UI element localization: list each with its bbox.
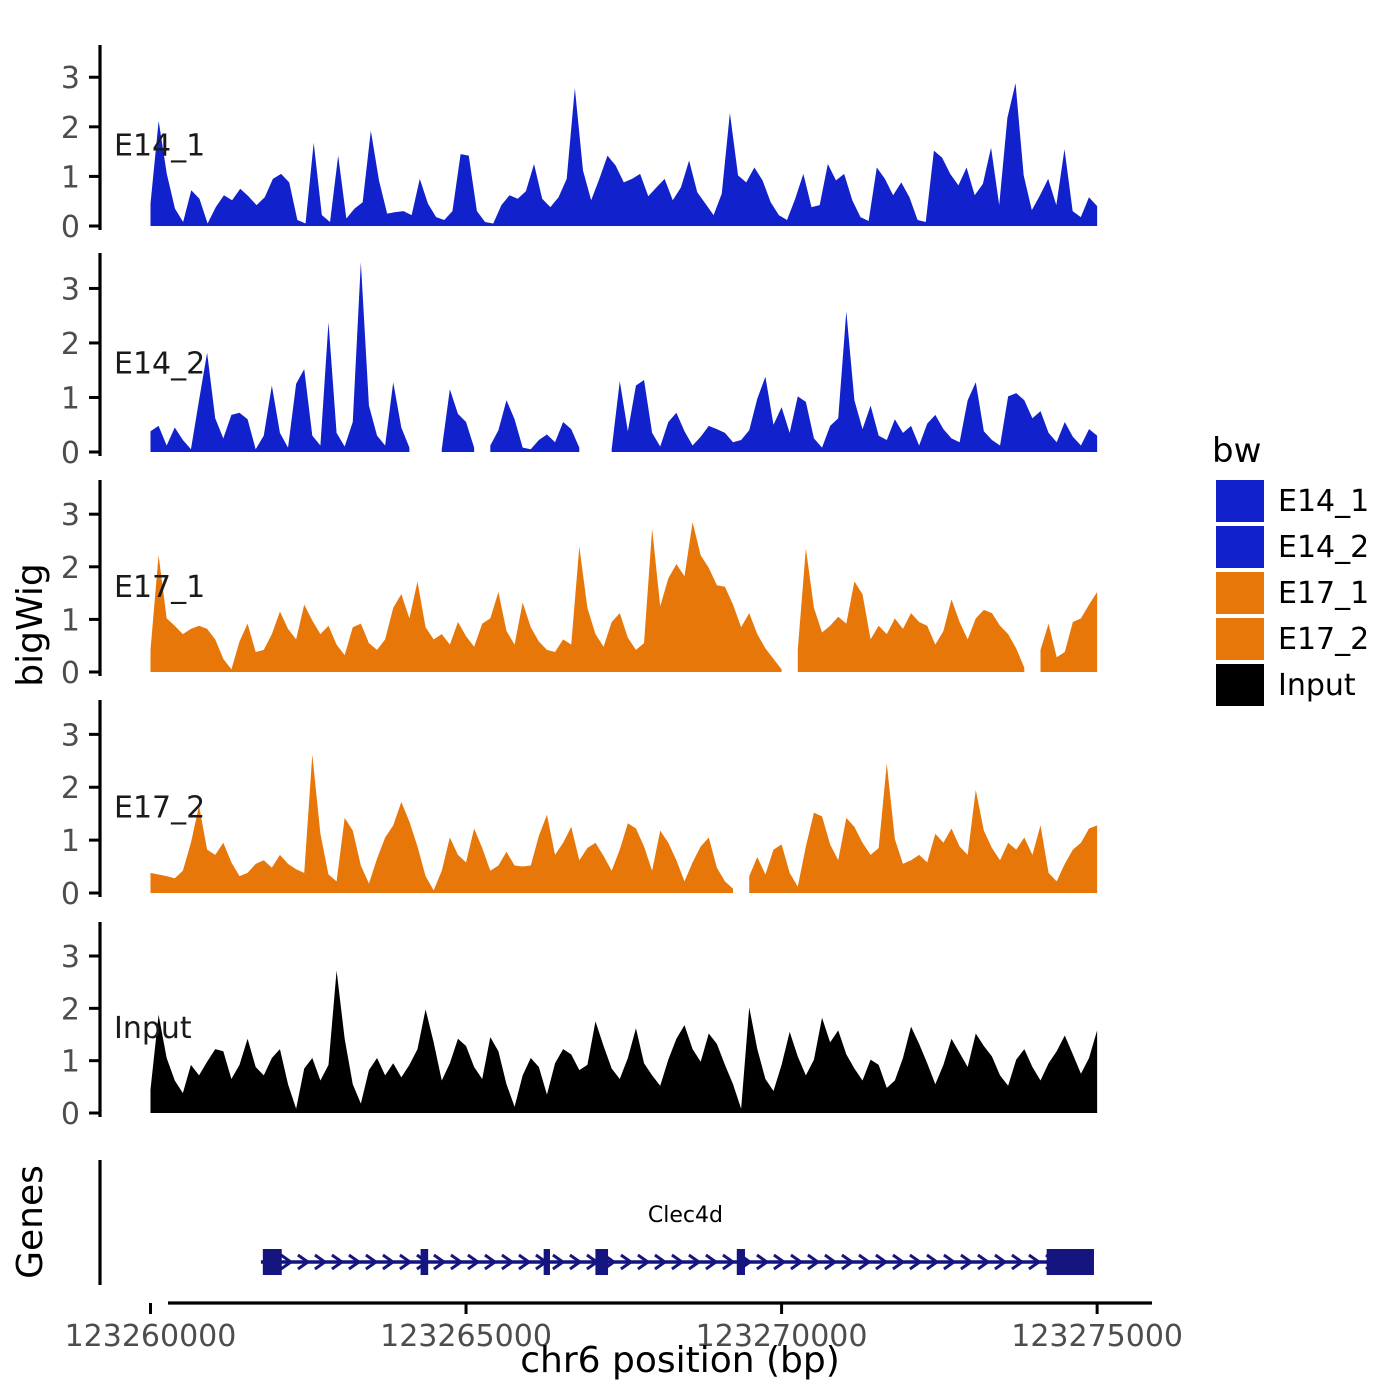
legend-swatch [1216,664,1264,706]
legend-swatch [1216,572,1264,614]
y-tick-label: 1 [61,381,80,416]
y-tick-label: 0 [61,656,80,691]
gene-exon-block [1047,1249,1094,1275]
legend-swatch [1216,618,1264,660]
y-tick-label: 0 [61,877,80,912]
y-axis-title-genes: Genes [10,1165,51,1279]
y-tick-label: 2 [61,327,80,362]
gene-exon-block [595,1249,608,1275]
track-panel-e17_1: 0123E17_1 [61,480,1097,691]
panel-label-e14_1: E14_1 [114,129,205,164]
y-tick-label: 2 [61,771,80,806]
legend-item-label: E17_2 [1278,622,1369,657]
panel-label-e14_2: E14_2 [114,347,205,382]
legend-item-input[interactable]: Input [1216,664,1356,706]
panel-label-input: Input [114,1011,192,1046]
legend-item-e17_1[interactable]: E17_1 [1216,572,1369,614]
gene-exon-block [737,1249,745,1275]
track-area-e14_2 [612,311,1097,452]
legend-item-e17_2[interactable]: E17_2 [1216,618,1369,660]
y-tick-label: 2 [61,551,80,586]
legend-item-label: Input [1278,668,1356,703]
x-axis-title: chr6 position (bp) [520,1340,840,1381]
gene-exon-block [544,1249,550,1275]
y-tick-label: 0 [61,1097,80,1132]
genes-panel: Clec4d [100,1160,1094,1285]
gene-exon-block [263,1249,282,1275]
track-area-e17_2 [749,763,1097,893]
y-tick-label: 0 [61,436,80,471]
y-tick-label: 1 [61,824,80,859]
track-area-e17_1 [150,522,781,672]
y-tick-label: 2 [61,992,80,1027]
y-tick-label: 3 [61,61,80,96]
legend-item-e14_1[interactable]: E14_1 [1216,480,1369,522]
figure-root: bigWig Genes 0123E14_10123E14_20123E17_1… [0,0,1400,1400]
y-tick-label: 3 [61,272,80,307]
y-tick-label: 3 [61,718,80,753]
y-tick-label: 1 [61,1045,80,1080]
track-area-e14_1 [150,83,1097,226]
track-area-input [150,971,1097,1113]
legend-item-label: E14_2 [1278,530,1369,565]
legend[interactable]: bwE14_1E14_2E17_1E17_2Input [1212,431,1369,706]
legend-item-label: E14_1 [1278,484,1369,519]
panel-label-e17_1: E17_1 [114,570,205,605]
gene-name-label: Clec4d [648,1203,723,1228]
track-area-e17_1 [798,548,1025,672]
y-axis-title-bigwig: bigWig [10,563,51,686]
x-tick-label: 123260000 [65,1319,237,1354]
track-area-e14_2 [442,389,474,452]
x-tick-label: 123275000 [1011,1319,1183,1354]
y-tick-label: 3 [61,940,80,975]
y-tick-label: 3 [61,498,80,533]
legend-swatch [1216,480,1264,522]
panel-label-e17_2: E17_2 [114,790,205,825]
legend-title: bw [1212,431,1261,471]
track-area-e17_2 [150,754,733,893]
track-area-e17_1 [1041,592,1098,672]
legend-item-label: E17_1 [1278,576,1369,611]
track-panel-e17_2: 0123E17_2 [61,700,1097,912]
y-tick-label: 2 [61,111,80,146]
track-panel-input: 0123Input [61,922,1097,1132]
track-area-e14_2 [490,400,579,452]
track-panel-e14_1: 0123E14_1 [61,45,1097,245]
legend-item-e14_2[interactable]: E14_2 [1216,526,1369,568]
y-tick-label: 1 [61,160,80,195]
track-panel-e14_2: 0123E14_2 [61,253,1097,471]
y-tick-label: 0 [61,210,80,245]
track-panels: 0123E14_10123E14_20123E17_10123E17_20123… [61,45,1097,1132]
gene-exon-block [421,1249,429,1275]
legend-swatch [1216,526,1264,568]
y-tick-label: 1 [61,603,80,638]
genome-browser-figure: bigWig Genes 0123E14_10123E14_20123E17_1… [0,0,1400,1400]
